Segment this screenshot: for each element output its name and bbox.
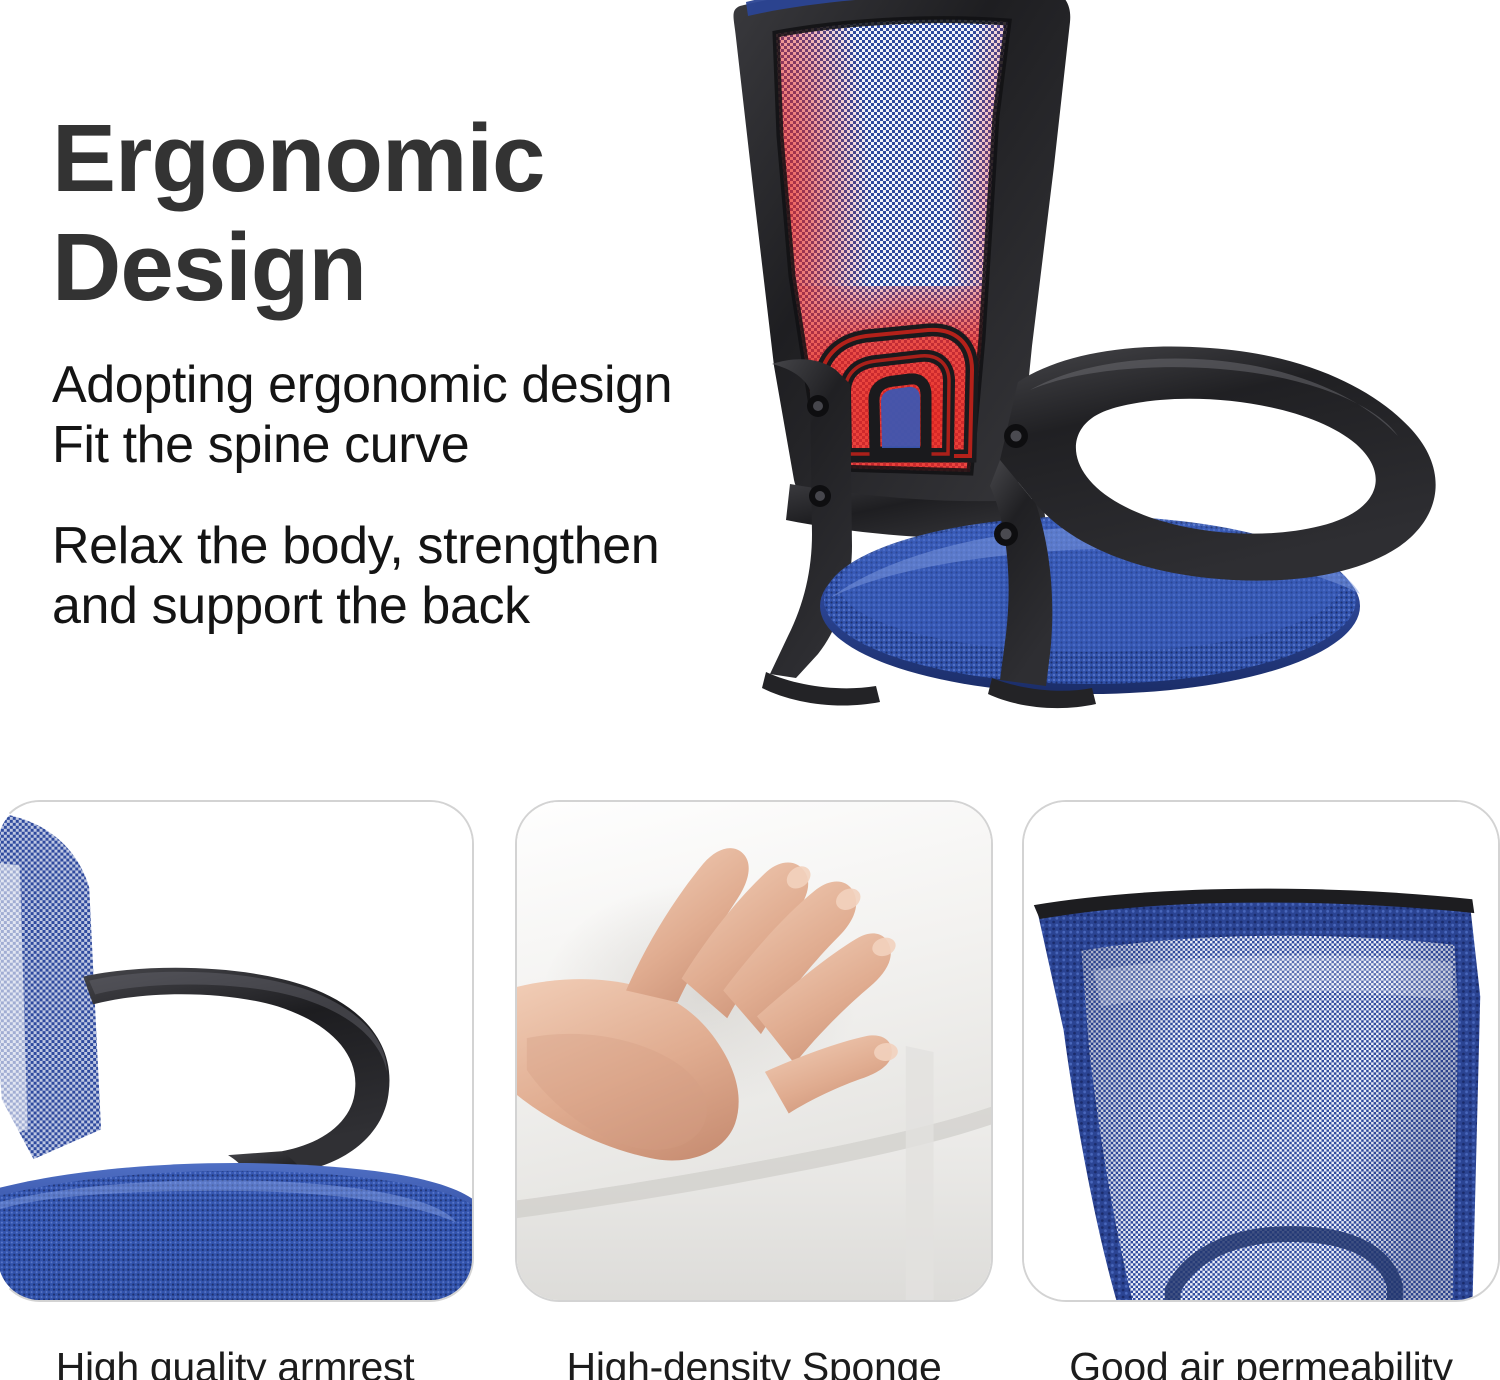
feature-image-sponge[interactable] [515,800,993,1302]
page-title: Ergonomic Design [52,104,752,323]
feature-cell-armrest: High quality armrest [0,800,474,1380]
hero-chair-image [700,0,1500,766]
feature-caption-permeability: Good air permeability [1022,1344,1500,1380]
feature-image-armrest[interactable] [0,800,474,1302]
feature-cell-permeability: Good air permeability [1022,800,1500,1380]
product-feature-page: Ergonomic Design Adopting ergonomic desi… [0,0,1500,1380]
mesh-backrest-closeup-illustration [1024,802,1498,1300]
hero-subhead-1-block: Adopting ergonomic design Fit the spine … [52,355,752,476]
feature-caption-armrest: High quality armrest [0,1344,474,1380]
hero-copy-block: Ergonomic Design Adopting ergonomic desi… [52,104,752,636]
feature-cell-sponge: High-density Sponge [515,800,993,1380]
hero-subhead-2: Relax the body, strengthen and support t… [52,516,752,637]
feature-panel-row: High quality armrest [0,800,1500,1380]
chair-rear-view-illustration [700,0,1500,766]
feature-image-permeability[interactable] [1022,800,1500,1302]
feature-caption-sponge: High-density Sponge [515,1344,993,1380]
armrest-closeup-illustration [0,802,472,1300]
hero-subhead-1: Adopting ergonomic design Fit the spine … [52,355,752,476]
hero-subhead-2-block: Relax the body, strengthen and support t… [52,516,752,637]
sponge-hand-press-illustration [517,802,991,1300]
